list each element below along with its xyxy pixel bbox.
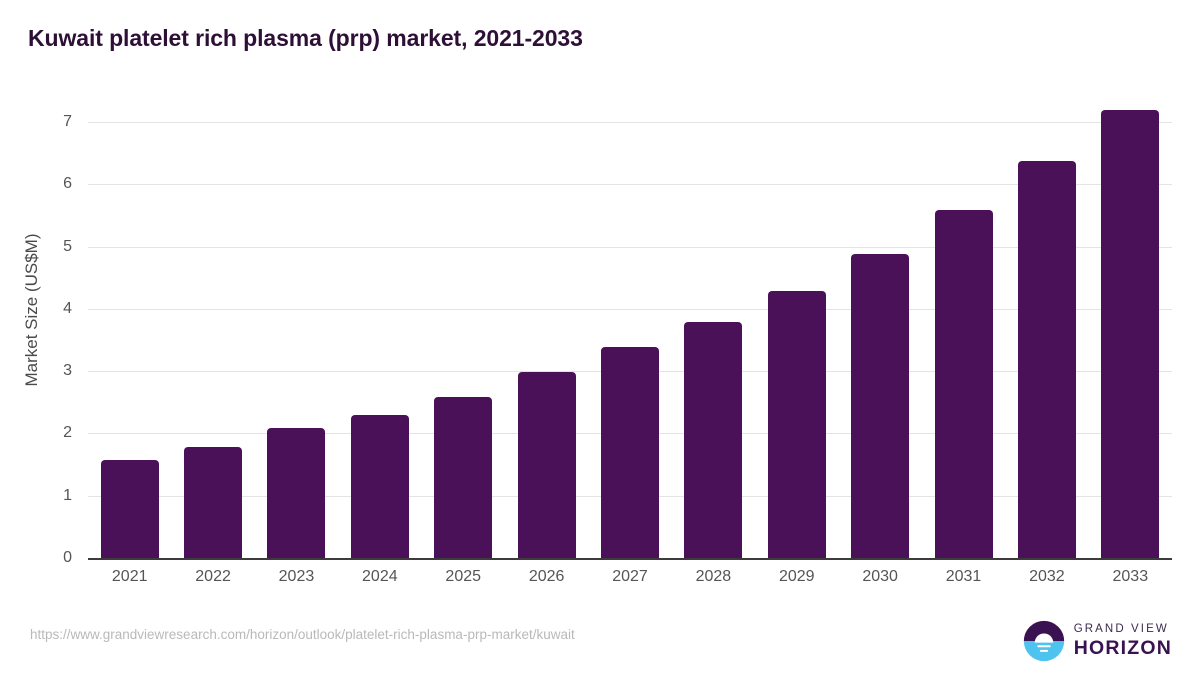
bar[interactable] <box>101 460 159 558</box>
bar[interactable] <box>851 254 909 558</box>
bar[interactable] <box>768 291 826 558</box>
bar[interactable] <box>684 322 742 558</box>
logo-wordmark: GRAND VIEW HORIZON <box>1074 624 1172 658</box>
x-tick-label: 2021 <box>88 568 171 586</box>
x-tick-label: 2029 <box>755 568 838 586</box>
x-tick-label: 2026 <box>505 568 588 586</box>
y-tick-label: 2 <box>32 424 72 442</box>
x-tick-label: 2031 <box>922 568 1005 586</box>
bar[interactable] <box>184 447 242 558</box>
brand-logo: GRAND VIEW HORIZON <box>1023 618 1172 664</box>
bar[interactable] <box>351 415 409 558</box>
y-tick-label: 3 <box>32 362 72 380</box>
y-tick-label: 6 <box>32 175 72 193</box>
y-tick-label: 5 <box>32 238 72 256</box>
chart-card: Kuwait platelet rich plasma (prp) market… <box>0 0 1200 675</box>
bar[interactable] <box>267 428 325 558</box>
x-axis-line <box>88 558 1172 560</box>
bar[interactable] <box>434 397 492 558</box>
y-tick-label: 0 <box>32 549 72 567</box>
bar[interactable] <box>601 347 659 558</box>
x-tick-label: 2033 <box>1089 568 1172 586</box>
y-tick-label: 4 <box>32 300 72 318</box>
bar[interactable] <box>1018 161 1076 558</box>
bar[interactable] <box>935 210 993 558</box>
source-url[interactable]: https://www.grandviewresearch.com/horizo… <box>30 627 575 642</box>
logo-line-grand-view: GRAND VIEW <box>1074 624 1172 636</box>
bar-series <box>88 122 1172 558</box>
horizon-circle-icon <box>1023 620 1065 662</box>
y-tick-label: 1 <box>32 487 72 505</box>
page-title: Kuwait platelet rich plasma (prp) market… <box>28 25 583 52</box>
x-tick-label: 2023 <box>255 568 338 586</box>
x-tick-label: 2027 <box>588 568 671 586</box>
x-tick-label: 2028 <box>672 568 755 586</box>
y-tick-label: 7 <box>32 113 72 131</box>
logo-line-horizon: HORIZON <box>1074 639 1172 659</box>
bar[interactable] <box>518 372 576 558</box>
x-tick-label: 2024 <box>338 568 421 586</box>
bar[interactable] <box>1101 110 1159 558</box>
x-axis-ticks: 2021202220232024202520262027202820292030… <box>88 568 1172 596</box>
x-tick-label: 2025 <box>422 568 505 586</box>
x-tick-label: 2022 <box>171 568 254 586</box>
y-axis-ticks: 01234567 <box>28 122 72 558</box>
x-tick-label: 2032 <box>1005 568 1088 586</box>
x-tick-label: 2030 <box>838 568 921 586</box>
